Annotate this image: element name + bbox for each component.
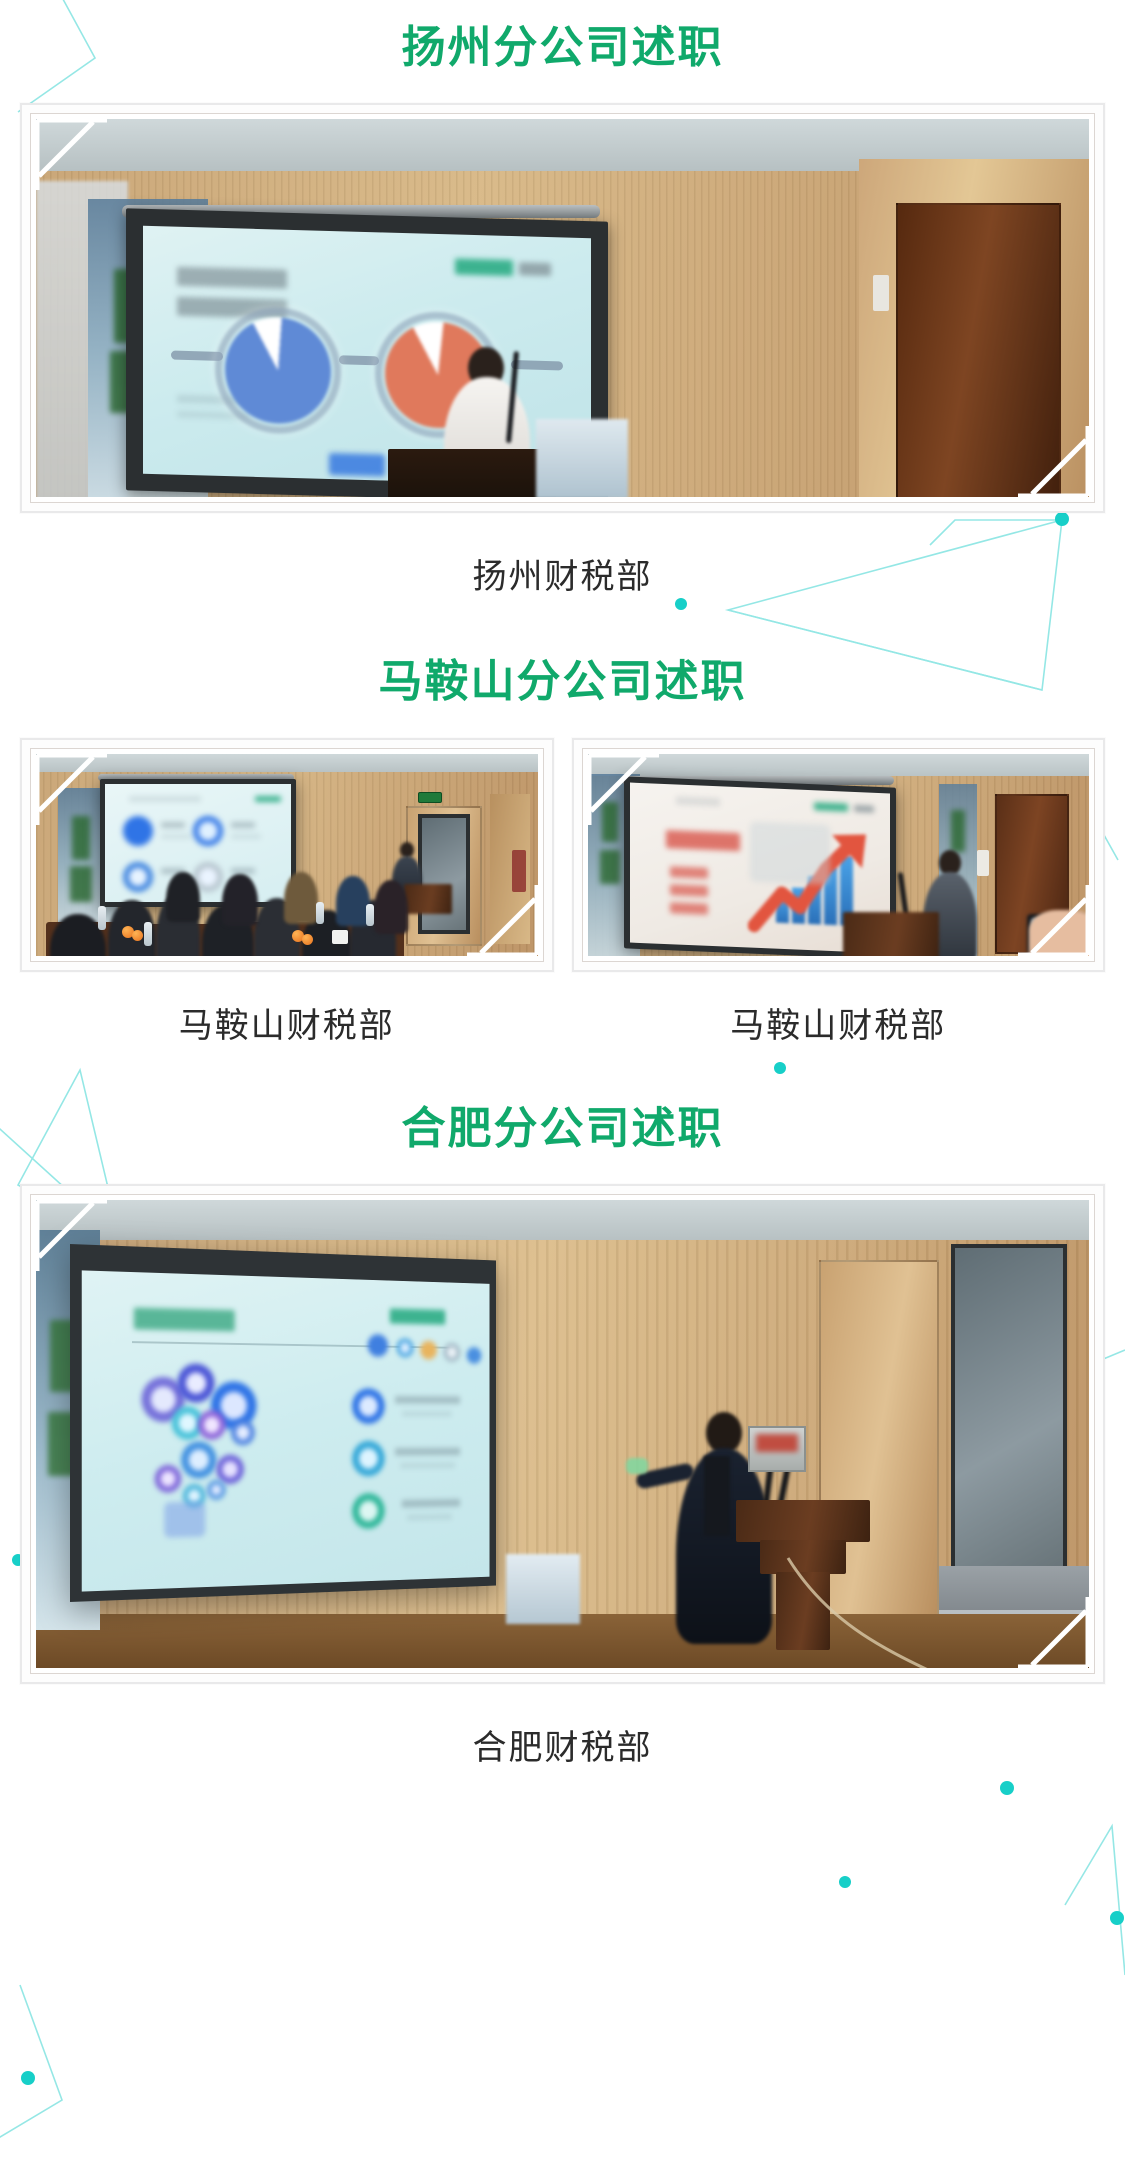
section-hefei: 合肥分公司述职	[0, 1047, 1125, 1769]
section-title-hefei: 合肥分公司述职	[0, 1103, 1125, 1156]
poster-page: 扬州分公司述职	[0, 0, 1125, 2177]
photo-frame-maanshan-right	[572, 738, 1106, 972]
section-maanshan: 马鞍山分公司述职	[0, 598, 1125, 1048]
poster-content: 扬州分公司述职	[0, 0, 1125, 1769]
photo-yangzhou	[36, 119, 1089, 497]
photo-caption-yangzhou: 扬州财税部	[0, 557, 1125, 598]
photo-maanshan-right	[588, 754, 1090, 956]
section-yangzhou: 扬州分公司述职	[0, 0, 1125, 598]
photo-caption-maanshan-left: 马鞍山财税部	[20, 1006, 554, 1047]
photo-maanshan-left	[36, 754, 538, 956]
photo-row-maanshan	[20, 738, 1105, 972]
photo-hefei	[36, 1200, 1089, 1668]
photo-caption-hefei: 合肥财税部	[0, 1728, 1125, 1769]
caption-row-maanshan: 马鞍山财税部 马鞍山财税部	[20, 1006, 1105, 1047]
photo-frame-yangzhou	[20, 103, 1105, 513]
section-title-maanshan: 马鞍山分公司述职	[0, 656, 1125, 709]
section-title-yangzhou: 扬州分公司述职	[0, 22, 1125, 75]
photo-caption-maanshan-right: 马鞍山财税部	[572, 1006, 1106, 1047]
photo-frame-hefei	[20, 1184, 1105, 1684]
photo-frame-maanshan-left	[20, 738, 554, 972]
